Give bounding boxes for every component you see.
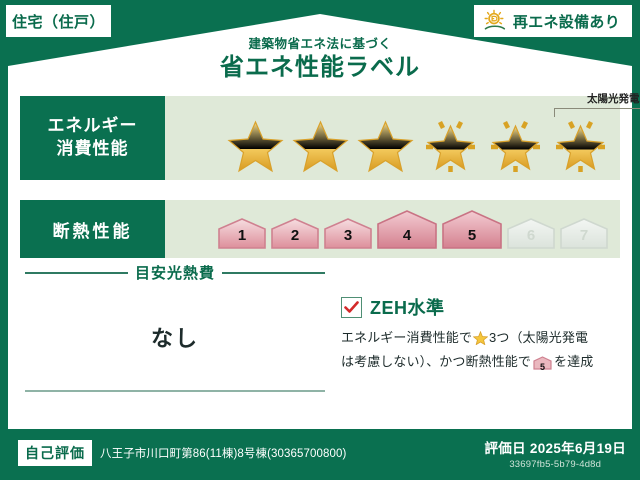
renewable-energy-badge: 再エネ設備あり <box>474 5 632 37</box>
category-chip-label: 住宅（住戸） <box>12 11 105 32</box>
star-6-solar <box>550 116 611 174</box>
stars-area: 太陽光発電(自家消費)分 <box>165 96 620 180</box>
utility-cost-rule-right <box>222 272 325 274</box>
grade-badge-2-value: 2 <box>270 227 320 244</box>
zeh-desc-star-count: 3つ（太陽光発電 <box>489 330 588 345</box>
energy-performance-row: エネルギー 消費性能 太陽光発電(自家消費)分 <box>20 96 620 180</box>
star-rating <box>225 116 611 174</box>
footer-right: 評価日 2025年6月19日 33697fb5-5b79-4d8d <box>484 437 626 470</box>
solar-annotation: 太陽光発電(自家消費)分 <box>548 94 640 105</box>
inline-grade-badge: 5 <box>533 355 552 376</box>
zeh-title-row: ZEH水準 <box>341 294 613 320</box>
inline-grade-value: 5 <box>533 360 552 375</box>
insulation-performance-row: 断熱性能 1 <box>20 200 620 258</box>
grade-badge-1-value: 1 <box>217 227 267 244</box>
zeh-checkbox[interactable] <box>341 297 362 318</box>
utility-cost-bottom-rule <box>25 390 325 392</box>
utility-cost-value: なし <box>25 321 325 353</box>
grade-badge-4-value: 4 <box>376 227 438 244</box>
insulation-performance-label: 断熱性能 <box>20 200 165 258</box>
grade-badge-5-value: 5 <box>441 227 503 244</box>
star-4-solar <box>420 116 481 174</box>
star-2 <box>290 116 351 174</box>
property-address: 八王子市川口町第86(11棟)8号棟(30365700800) <box>100 445 346 461</box>
grade-badge-6: 6 <box>506 217 556 249</box>
grade-badge-2: 2 <box>270 217 320 249</box>
inline-star-icon <box>473 330 488 351</box>
zeh-title: ZEH水準 <box>370 294 445 320</box>
star-1 <box>225 116 286 174</box>
utility-cost-header: 目安光熱費 <box>25 262 325 283</box>
zeh-desc-part1: エネルギー消費性能で <box>341 330 472 345</box>
zeh-desc-part2: は考慮しない）、かつ断熱性能で <box>341 354 531 369</box>
grade-badge-7: 7 <box>559 217 609 249</box>
grade-badge-7-value: 7 <box>559 227 609 244</box>
grade-badge-5: 5 <box>441 209 503 249</box>
zeh-block: ZEH水準 エネルギー消費性能で3つ（太陽光発電は考慮しない）、かつ断熱性能で5… <box>341 294 613 376</box>
energy-label-root: 住宅（住戸） 再エネ設備あり 建築 <box>0 0 640 480</box>
grade-area: 1 2 3 <box>172 200 620 258</box>
energy-label-line1: エネルギー <box>48 115 138 138</box>
grade-badge-4: 4 <box>376 209 438 249</box>
utility-cost-block: 目安光熱費 なし <box>25 262 325 353</box>
category-chip: 住宅（住戸） <box>6 5 111 37</box>
zeh-desc-part3: を達成 <box>554 354 593 369</box>
star-3 <box>355 116 416 174</box>
insulation-grade-scale: 1 2 3 <box>217 209 609 249</box>
evaluation-id: 33697fb5-5b79-4d8d <box>484 459 626 470</box>
energy-performance-label: エネルギー 消費性能 <box>20 96 165 180</box>
grade-badge-3: 3 <box>323 217 373 249</box>
grade-badge-1: 1 <box>217 217 267 249</box>
energy-label-line2: 消費性能 <box>57 138 129 161</box>
grade-badge-6-value: 6 <box>506 227 556 244</box>
renewable-badge-label: 再エネ設備あり <box>513 11 620 32</box>
evaluation-type-chip: 自己評価 <box>18 440 92 466</box>
footer-left: 自己評価 八王子市川口町第86(11棟)8号棟(30365700800) <box>18 440 346 466</box>
grade-badge-3-value: 3 <box>323 227 373 244</box>
utility-cost-rule-left <box>25 272 128 274</box>
zeh-description: エネルギー消費性能で3つ（太陽光発電は考慮しない）、かつ断熱性能で5を達成 <box>341 327 613 376</box>
solar-annotation-label: 太陽光発電(自家消費)分 <box>548 94 640 105</box>
star-5-solar <box>485 116 546 174</box>
utility-cost-title: 目安光熱費 <box>135 262 215 283</box>
check-icon <box>344 301 359 314</box>
evaluation-date: 評価日 2025年6月19日 <box>484 437 626 457</box>
solar-sun-icon <box>482 9 508 33</box>
